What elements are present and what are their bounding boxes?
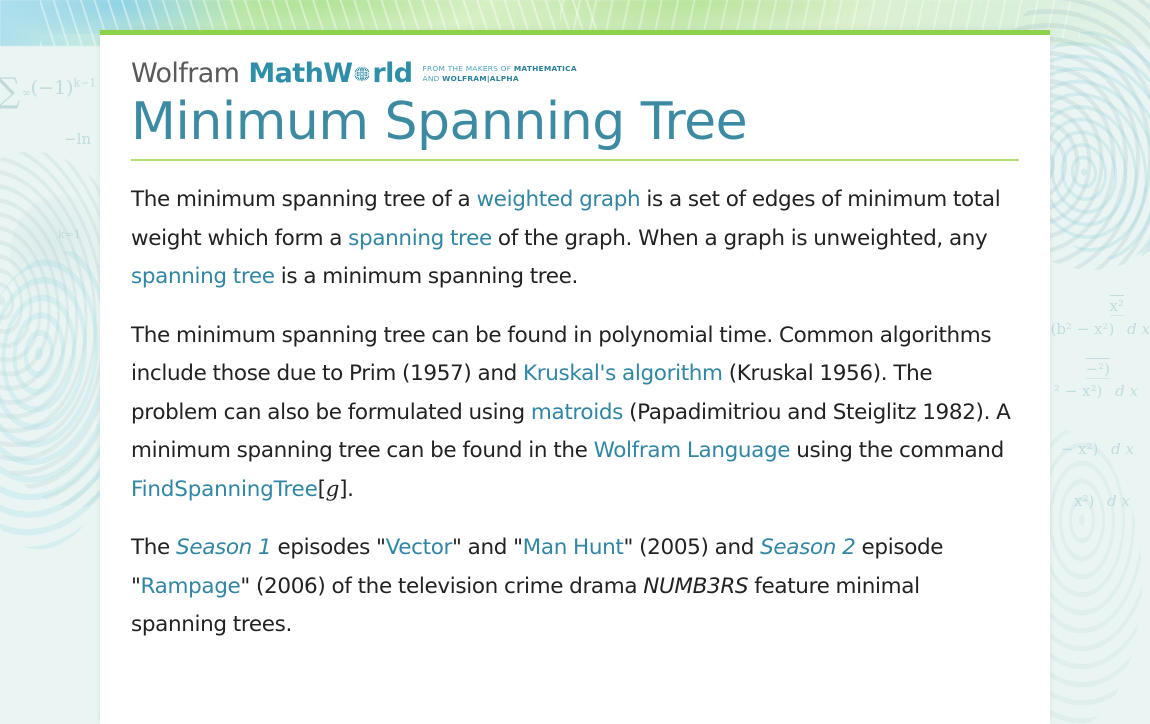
paragraph-numb3rs: The Season 1 episodes "Vector" and "Man … bbox=[131, 529, 1019, 645]
watermark-sum-index: k=1 bbox=[58, 228, 81, 241]
emphasis-numb3rs: NUMB3RS bbox=[643, 574, 748, 599]
fraction-denominator: − x²) bbox=[1061, 440, 1099, 458]
logo-math-text: Math bbox=[248, 60, 323, 87]
text-run: using the command bbox=[790, 438, 1004, 463]
summation-body: (−1) bbox=[31, 77, 74, 99]
tagline-wolframalpha: Wolfram|Alpha bbox=[442, 74, 519, 83]
logo-tagline: From the makers of Mathematica and Wolfr… bbox=[423, 64, 577, 87]
text-run: " and " bbox=[452, 535, 523, 560]
link-wolfram-language[interactable]: Wolfram Language bbox=[594, 438, 791, 463]
text-run: " (2005) and bbox=[624, 535, 761, 560]
paragraph-algorithms: The minimum spanning tree can be found i… bbox=[131, 317, 1019, 510]
fraction-denominator: ² − x²) bbox=[1054, 382, 1102, 400]
swirl-decoration-left-glow bbox=[10, 195, 110, 315]
watermark-fraction: x² bbox=[1110, 295, 1124, 316]
fraction-denominator: x²) bbox=[1074, 492, 1094, 510]
link-kruskal-s-algorithm[interactable]: Kruskal's algorithm bbox=[523, 361, 723, 386]
link-vector[interactable]: Vector bbox=[386, 535, 452, 560]
watermark-summation: ∑ ∞ (−1)k−1 bbox=[0, 74, 96, 108]
watermark-ln-term: −ln bbox=[64, 130, 91, 148]
text-run: The bbox=[131, 535, 176, 560]
fraction-numerator: −²) bbox=[1086, 358, 1110, 379]
text-run: episodes " bbox=[271, 535, 385, 560]
logo-wolfram-text: Wolfram bbox=[131, 60, 239, 87]
link-weighted-graph[interactable]: weighted graph bbox=[476, 187, 640, 212]
text-run: is a minimum spanning tree. bbox=[275, 264, 578, 289]
text-run: of the graph. When a graph is unweighted… bbox=[492, 226, 988, 251]
link-spanning-tree[interactable]: spanning tree bbox=[348, 226, 492, 251]
tagline-line-1: From the makers of Mathematica bbox=[423, 64, 577, 74]
link-man-hunt[interactable]: Man Hunt bbox=[523, 535, 624, 560]
logo-w-text: W bbox=[323, 60, 352, 87]
summation-upper-limit: ∞ bbox=[22, 89, 30, 99]
fraction-differential: d x bbox=[1111, 440, 1134, 458]
summation-exponent: k−1 bbox=[73, 77, 96, 90]
link-spanning-tree[interactable]: spanning tree bbox=[131, 264, 275, 289]
article-body: The minimum spanning tree of a weighted … bbox=[131, 181, 1019, 645]
math-variable-g: g bbox=[326, 477, 339, 502]
logo-mathworld-text: MathW rld bbox=[248, 60, 412, 87]
page-title: Minimum Spanning Tree bbox=[131, 93, 1019, 161]
fraction-numerator: x² bbox=[1110, 295, 1124, 316]
content-card: Wolfram MathW rld bbox=[100, 30, 1050, 724]
tagline-prefix-1: From the makers of bbox=[423, 64, 514, 73]
watermark-fraction: − x²) d x bbox=[1061, 440, 1134, 458]
fraction-denominator: (b² − x²) bbox=[1050, 320, 1114, 338]
link-matroids[interactable]: matroids bbox=[531, 400, 623, 425]
link-season-1[interactable]: Season 1 bbox=[176, 535, 271, 560]
watermark-fraction: (b² − x²) d x bbox=[1050, 320, 1150, 338]
link-season-2[interactable]: Season 2 bbox=[760, 535, 855, 560]
link-findspanningtree-command[interactable]: FindSpanningTree bbox=[131, 477, 318, 502]
watermark-fraction: ² − x²) d x bbox=[1054, 382, 1138, 400]
globe-icon bbox=[352, 62, 372, 82]
tagline-mathematica: Mathematica bbox=[514, 64, 577, 73]
text-run: The minimum spanning tree of a bbox=[131, 187, 476, 212]
logo-orld-text: rld bbox=[372, 60, 412, 87]
watermark-fraction: x²) d x bbox=[1074, 492, 1130, 510]
tagline-prefix-2: and bbox=[423, 74, 443, 83]
text-run: " (2006) of the television crime drama bbox=[240, 574, 643, 599]
text-run: [ bbox=[318, 477, 326, 502]
summation-sigma-icon: ∑ bbox=[0, 71, 20, 111]
fraction-differential: d x bbox=[1107, 492, 1130, 510]
fraction-differential: d x bbox=[1115, 382, 1138, 400]
text-run: ]. bbox=[339, 477, 354, 502]
link-rampage[interactable]: Rampage bbox=[141, 574, 241, 599]
tagline-line-2: and Wolfram|Alpha bbox=[423, 74, 577, 84]
fraction-differential: d x bbox=[1127, 320, 1150, 338]
paragraph-definition: The minimum spanning tree of a weighted … bbox=[131, 181, 1019, 297]
site-logo[interactable]: Wolfram MathW rld bbox=[131, 57, 1019, 87]
watermark-fraction: −²) bbox=[1086, 358, 1110, 379]
